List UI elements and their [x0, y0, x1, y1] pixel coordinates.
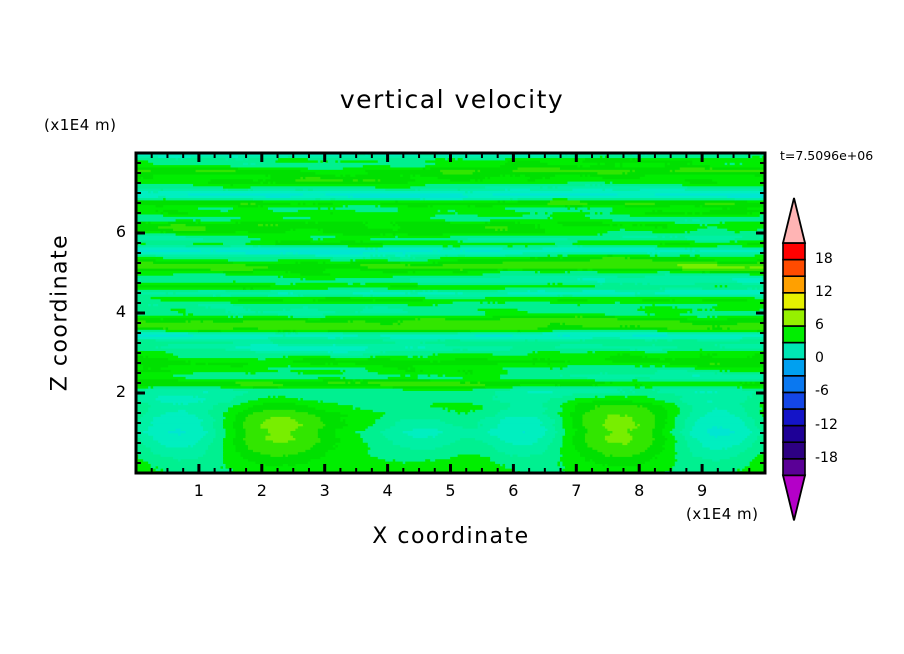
x-tick-label: 7: [561, 481, 591, 500]
x-tick-label: 2: [247, 481, 277, 500]
x-tick-label: 1: [184, 481, 214, 500]
contour-field: [0, 0, 904, 654]
y-tick-label: 4: [96, 302, 126, 321]
x-tick-label: 4: [373, 481, 403, 500]
colorbar-tick-label: -18: [815, 450, 838, 466]
colorbar-tick-label: -6: [815, 383, 829, 399]
colorbar: [783, 198, 805, 520]
x-tick-label: 3: [310, 481, 340, 500]
colorbar-tick-label: 0: [815, 350, 824, 366]
colorbar-tick-label: 12: [815, 284, 833, 300]
contour-bands: [136, 153, 766, 474]
x-tick-label: 9: [687, 481, 717, 500]
plot-canvas: vertical velocity (x1E4 m) t=7.5096e+06 …: [0, 0, 904, 654]
x-tick-label: 5: [436, 481, 466, 500]
x-tick-label: 6: [498, 481, 528, 500]
colorbar-tick-label: 6: [815, 317, 824, 333]
colorbar-tick-label: -12: [815, 417, 838, 433]
y-tick-label: 2: [96, 382, 126, 401]
x-tick-label: 8: [624, 481, 654, 500]
y-tick-label: 6: [96, 222, 126, 241]
colorbar-tick-label: 18: [815, 251, 833, 267]
